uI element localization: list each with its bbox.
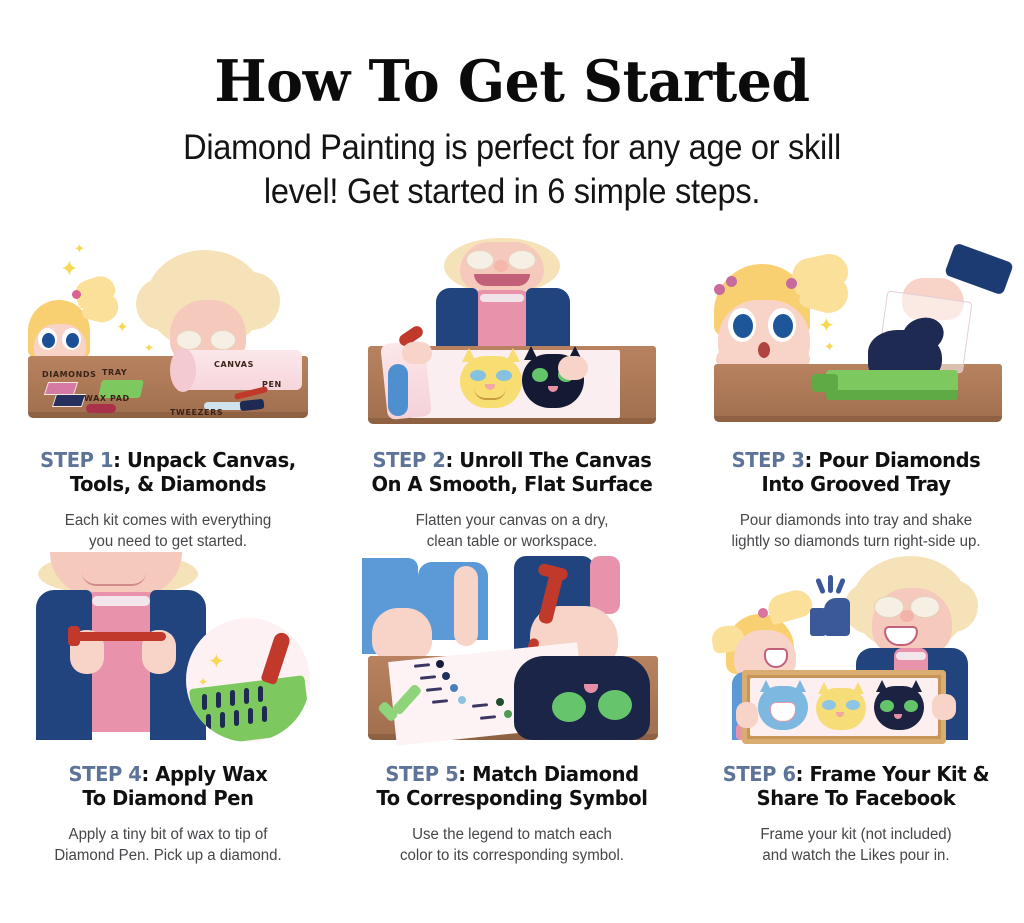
step-1-separator: : (113, 448, 120, 472)
step-2-heading: STEP 2: Unroll The Canvas On A Smooth, F… (360, 448, 664, 496)
label-tray: TRAY (102, 368, 127, 377)
cat-ear (910, 680, 922, 692)
hair-tie (726, 276, 737, 287)
diamond (234, 710, 239, 726)
step-6-title-part2: Share To Facebook (757, 786, 956, 810)
sparkle-icon: ✦ (824, 340, 835, 353)
diamond (230, 690, 235, 706)
step-4-description: Apply a tiny bit of wax to tip of Diamon… (19, 824, 318, 866)
step-3-illustration-wrap: ✦ ✦ (688, 238, 1024, 434)
hand-right (558, 356, 588, 380)
hand-holding-frame (736, 702, 758, 728)
canvas-backing-blue (388, 364, 408, 416)
step-1-title-part2: Tools, & Diamonds (70, 472, 266, 496)
pearl-necklace (92, 596, 150, 606)
legend-dot (504, 710, 512, 718)
step-1-title-part1: Unpack Canvas, (127, 448, 296, 472)
diamond-swatch-navy (52, 394, 86, 407)
iris (773, 314, 793, 338)
step-6-desc-line-1: Frame your kit (not included) (707, 824, 1006, 845)
glasses-lens (910, 596, 940, 618)
hand-holding-frame (932, 694, 956, 720)
step-6-desc-line-2: and watch the Likes pour in. (707, 845, 1006, 866)
step-6-description: Frame your kit (not included) and watch … (707, 824, 1006, 866)
step-4-tag: STEP 4 (69, 762, 142, 786)
iris (66, 333, 79, 348)
thumb-hand (824, 598, 850, 636)
step-5-description: Use the legend to match each color to it… (363, 824, 662, 866)
step-3-separator: : (805, 448, 812, 472)
infographic-page: How To Get Started Diamond Painting is p… (0, 0, 1024, 923)
pearl-necklace (896, 652, 926, 660)
glasses-lens (210, 330, 236, 350)
cat-eye (496, 370, 512, 381)
step-5-title-part1: Match Diamond (472, 762, 639, 786)
cat-eye (470, 370, 486, 381)
label-canvas: CANVAS (214, 360, 254, 369)
diamond (202, 694, 207, 710)
step-3-illustration: ✦ ✦ (706, 238, 1006, 434)
step-3-tag: STEP 3 (732, 448, 805, 472)
page-title: How To Get Started (15, 52, 1008, 112)
cat-ear (852, 682, 864, 694)
pen-cap (68, 626, 80, 646)
yellow-cat-face (460, 356, 522, 408)
cat-eye (822, 700, 836, 710)
step-5-separator: : (458, 762, 465, 786)
picture-frame (742, 670, 946, 744)
tray-spout (812, 374, 838, 392)
step-6-illustration (706, 552, 1006, 748)
hand-pointing (372, 608, 432, 660)
cat-ear (818, 682, 830, 694)
step-card-5: STEP 5: Match Diamond To Corresponding S… (344, 552, 680, 866)
label-diamonds: DIAMONDS (42, 370, 96, 379)
step-1-desc-line-1: Each kit comes with everything (19, 510, 318, 531)
legend-dot (458, 696, 466, 704)
step-2-description: Flatten your canvas on a dry, clean tabl… (363, 510, 662, 552)
step-6-illustration-wrap (688, 552, 1024, 748)
step-3-title-part2: Into Grooved Tray (761, 472, 950, 496)
step-2-desc-line-1: Flatten your canvas on a dry, (363, 510, 662, 531)
step-2-illustration-wrap (344, 238, 680, 434)
arm (454, 566, 478, 646)
subtitle-line-2: level! Get started in 6 simple steps. (103, 170, 921, 214)
step-6-tag: STEP 6 (723, 762, 796, 786)
step-4-title-part1: Apply Wax (155, 762, 267, 786)
step-2-illustration (362, 238, 662, 434)
step-3-title-part1: Pour Diamonds (818, 448, 980, 472)
legend-dot (436, 660, 444, 668)
step-4-title-part2: To Diamond Pen (82, 786, 253, 810)
cat-ear (876, 680, 888, 692)
step-4-desc-line-2: Diamond Pen. Pick up a diamond. (19, 845, 318, 866)
step-1-heading: STEP 1: Unpack Canvas, Tools, & Diamonds (16, 448, 320, 496)
step-card-6: STEP 6: Frame Your Kit & Share To Facebo… (688, 552, 1024, 866)
pink-sleeve (590, 556, 620, 614)
legend-dot (450, 684, 458, 692)
step-4-illustration-wrap: ✦ ✦ ✦ (0, 552, 336, 748)
step-1-tag: STEP 1 (40, 448, 113, 472)
glasses-lens (176, 330, 202, 350)
thumbs-up-icon (804, 578, 854, 640)
smile (474, 274, 530, 286)
step-3-description: Pour diamonds into tray and shake lightl… (707, 510, 1006, 552)
step-1-description: Each kit comes with everything you need … (19, 510, 318, 552)
diamond (206, 714, 211, 730)
step-2-title-part2: On A Smooth, Flat Surface (371, 472, 652, 496)
step-5-desc-line-1: Use the legend to match each (363, 824, 662, 845)
steps-grid: ✦ ✦ ✦ ✦ ✦ (0, 238, 1024, 866)
step-2-separator: : (445, 448, 452, 472)
cat-ear (794, 680, 806, 692)
step-4-illustration: ✦ ✦ ✦ (18, 552, 318, 748)
step-3-heading: STEP 3: Pour Diamonds Into Grooved Tray (704, 448, 1008, 496)
label-pen: PEN (262, 380, 282, 389)
header: How To Get Started Diamond Painting is p… (0, 52, 1024, 214)
step-5-illustration (362, 552, 662, 748)
diamond (258, 686, 263, 702)
step-card-3: ✦ ✦ (688, 238, 1024, 552)
cat-eye (904, 700, 918, 712)
glasses-lens (508, 250, 536, 270)
legend-dot (442, 672, 450, 680)
label-wax-pad: WAX PAD (84, 394, 130, 403)
step-5-illustration-wrap (344, 552, 680, 748)
step-6-title-part1: Frame Your Kit & (809, 762, 989, 786)
diamond (216, 692, 221, 708)
label-tweezers: TWEEZERS (170, 408, 223, 417)
nose (494, 260, 508, 272)
subtitle-line-1: Diamond Painting is perfect for any age … (103, 126, 921, 170)
yellow-cat-face (816, 688, 866, 730)
emphasis-dash (828, 575, 833, 593)
diamond (244, 688, 249, 704)
cat-eye (552, 692, 586, 722)
step-6-separator: : (796, 762, 803, 786)
zoom-inset-circle: ✦ ✦ ✦ (186, 618, 310, 742)
step-3-desc-line-2: lightly so diamonds turn right-side up. (707, 531, 1006, 552)
step-5-desc-line-2: color to its corresponding symbol. (363, 845, 662, 866)
legend-dot (496, 698, 504, 706)
diamond-pen (74, 632, 166, 641)
sparkle-icon: ✦ (208, 652, 225, 672)
glasses-lens (466, 250, 494, 270)
step-5-title-part2: To Corresponding Symbol (376, 786, 647, 810)
step-card-1: ✦ ✦ ✦ ✦ ✦ (0, 238, 336, 552)
emphasis-dash (835, 578, 846, 595)
emphasis-dash (815, 578, 826, 595)
sparkle-icon: ✦ (144, 342, 154, 354)
checkmark-icon (376, 692, 422, 726)
nose (900, 610, 914, 622)
step-1-desc-line-2: you need to get started. (19, 531, 318, 552)
cat-eye (880, 700, 894, 712)
wax-pad (86, 404, 116, 413)
step-2-title-part1: Unroll The Canvas (459, 448, 651, 472)
tray-edge (826, 390, 958, 400)
sparkle-icon: ✦ (818, 316, 835, 336)
iris (733, 314, 753, 338)
step-card-4: ✦ ✦ ✦ (0, 552, 336, 866)
open-mouth (758, 342, 770, 358)
step-4-heading: STEP 4: Apply Wax To Diamond Pen (16, 762, 320, 810)
hair-tie (786, 278, 797, 289)
step-1-illustration: ✦ ✦ ✦ ✦ ✦ (18, 238, 318, 434)
hair-tie (72, 290, 81, 299)
step-1-illustration-wrap: ✦ ✦ ✦ ✦ ✦ (0, 238, 336, 434)
step-5-heading: STEP 5: Match Diamond To Corresponding S… (360, 762, 664, 810)
cat-eye (532, 368, 548, 382)
diamond (262, 706, 267, 722)
hair-tie (714, 284, 725, 295)
sparkle-icon: ✦ (116, 320, 129, 335)
cat-eye (598, 690, 632, 720)
hand-left (402, 342, 432, 364)
step-6-heading: STEP 6: Frame Your Kit & Share To Facebo… (704, 762, 1008, 810)
step-2-desc-line-2: clean table or workspace. (363, 531, 662, 552)
page-subtitle: Diamond Painting is perfect for any age … (103, 126, 921, 214)
pearl-necklace (480, 294, 524, 302)
cat-eye (846, 700, 860, 710)
diamond (248, 708, 253, 724)
step-5-tag: STEP 5 (385, 762, 458, 786)
sparkle-icon: ✦ (74, 242, 85, 255)
step-3-desc-line-1: Pour diamonds into tray and shake (707, 510, 1006, 531)
canvas-roll-end (170, 348, 196, 392)
step-4-desc-line-1: Apply a tiny bit of wax to tip of (19, 824, 318, 845)
step-4-separator: : (141, 762, 148, 786)
iris (42, 333, 55, 348)
frame-canvas (750, 678, 938, 736)
smile (82, 572, 146, 586)
step-card-2: STEP 2: Unroll The Canvas On A Smooth, F… (344, 238, 680, 552)
hair-tie (758, 608, 768, 618)
step-2-tag: STEP 2 (372, 448, 445, 472)
diamond (220, 712, 225, 728)
sparkle-icon: ✦ (60, 258, 78, 280)
cat-ear (760, 680, 772, 692)
